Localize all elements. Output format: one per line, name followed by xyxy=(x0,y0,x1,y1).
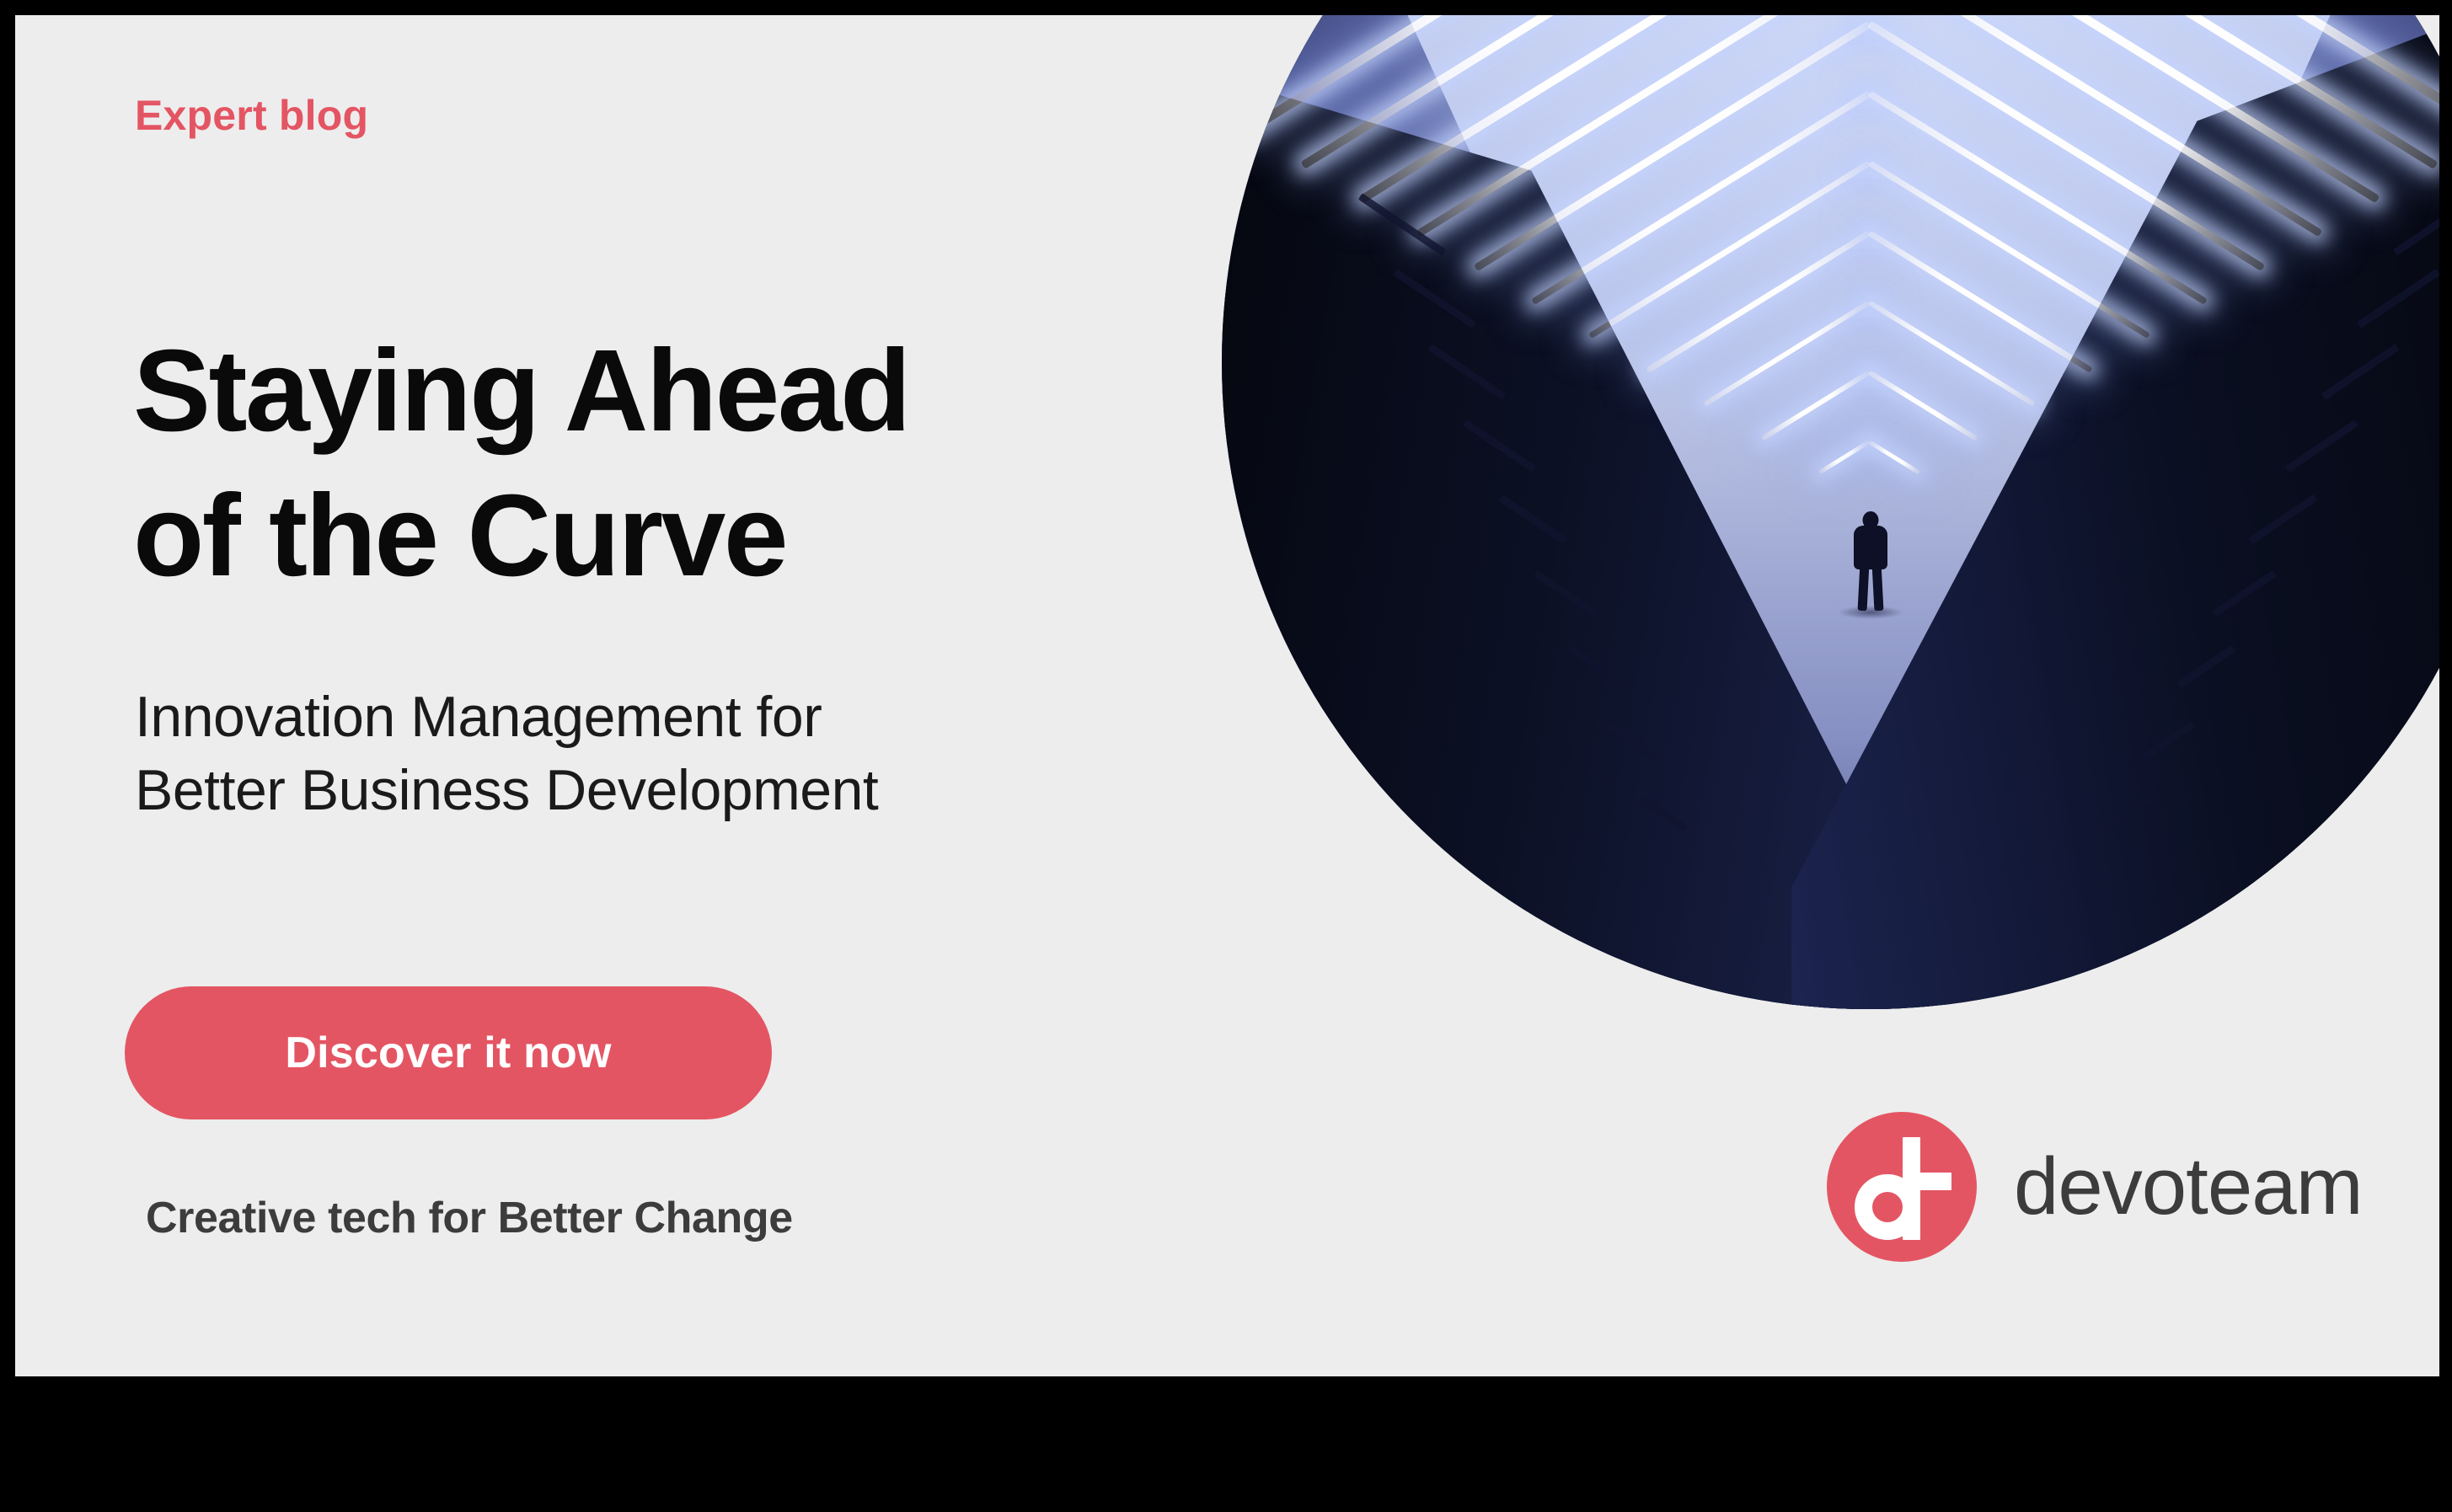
hero-photo xyxy=(1222,15,2439,1009)
neon-chevron-arm-right xyxy=(1868,440,1920,474)
person-shadow xyxy=(1838,606,1903,619)
screenshot-stage: Expert blog Staying Ahead of the Curve I… xyxy=(0,0,2452,1512)
neon-chevron-lights xyxy=(1222,15,2439,1009)
neon-chevron-arm-right xyxy=(1867,21,2265,271)
person-leg-left xyxy=(1857,563,1869,610)
neon-chevron-arm-left xyxy=(1646,231,1871,373)
eyebrow-label: Expert blog xyxy=(135,91,368,140)
monogram-crossbar xyxy=(1903,1173,1951,1190)
promotional-banner-card: Expert blog Staying Ahead of the Curve I… xyxy=(15,15,2439,1376)
subheading: Innovation Management for Better Busines… xyxy=(135,681,1230,827)
hero-image-circle xyxy=(1222,15,2439,1009)
devoteam-monogram-icon xyxy=(1827,1112,1977,1262)
neon-chevron-arm-left xyxy=(1818,440,1871,474)
brand-tagline: Creative tech for Better Change xyxy=(146,1193,793,1243)
person-silhouette xyxy=(1851,511,1890,609)
neon-chevron-arm-right xyxy=(1868,370,1978,441)
person-torso xyxy=(1854,526,1887,569)
headline-line-2: of the Curve xyxy=(133,478,1220,594)
subheading-line-2: Better Business Development xyxy=(135,754,1230,827)
neon-chevron-arm-left xyxy=(1474,21,1871,271)
page-title: Staying Ahead of the Curve xyxy=(133,333,1220,594)
neon-chevron-arm-left xyxy=(1588,161,1871,339)
devoteam-wordmark: devoteam xyxy=(2014,1146,2363,1227)
neon-chevron-arm-right xyxy=(1868,231,2093,373)
subheading-line-1: Innovation Management for xyxy=(135,681,1230,754)
headline-line-1: Staying Ahead xyxy=(133,333,1220,449)
devoteam-logo[interactable]: devoteam xyxy=(1827,1112,2363,1262)
person-leg-right xyxy=(1871,563,1883,610)
neon-chevron-arm-right xyxy=(1868,161,2150,339)
neon-chevron-arm-left xyxy=(1761,370,1871,441)
discover-it-now-button[interactable]: Discover it now xyxy=(125,986,772,1119)
